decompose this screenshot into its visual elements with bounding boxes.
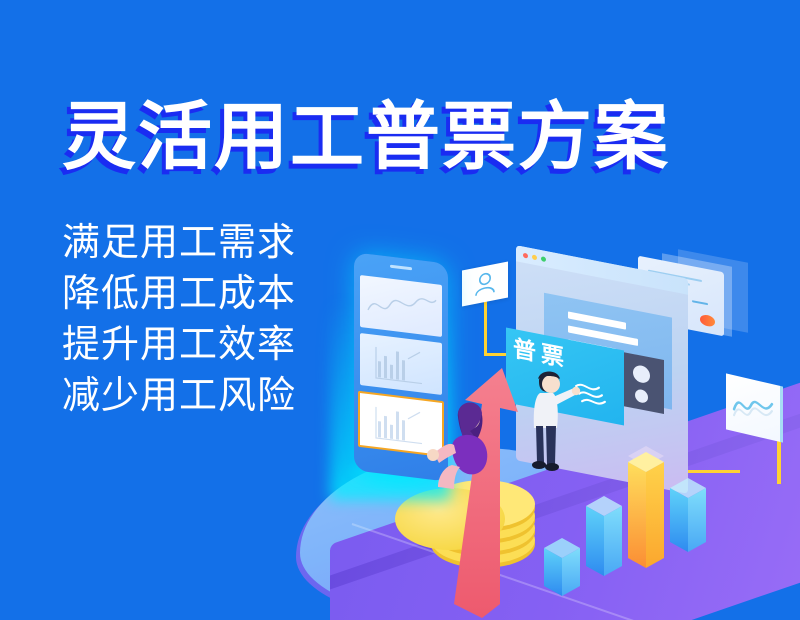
maximize-dot-icon[interactable] [541,256,546,262]
page-title: 灵活用工普票方案 [62,96,670,178]
bar-3 [628,446,664,568]
list-item: 满足用工需求 [62,218,296,269]
minimize-dot-icon[interactable] [532,254,537,260]
phone-card-line-chart[interactable] [360,275,442,337]
line-chart-icon [360,275,442,337]
connector-line-user [484,300,487,356]
list-item: 降低用工成本 [62,269,296,320]
bar-chart-3d-icon [542,428,732,598]
list-item: 提升用工效率 [62,320,296,371]
bar-2 [586,496,622,576]
bar-4 [670,478,706,552]
isometric-bar-chart [542,428,732,598]
poster-canvas: 普票 [0,0,800,620]
benefit-list: 满足用工需求 降低用工成本 提升用工效率 减少用工风险 [62,218,296,422]
bar-1 [544,538,580,596]
woman-seated [418,395,508,505]
phone-speaker [390,265,412,271]
bar-chart-icon [360,333,442,395]
person-icon [462,262,508,307]
panel-avatar [620,351,664,414]
close-dot-icon[interactable] [523,253,528,259]
user-profile-card [462,262,508,307]
list-item: 减少用工风险 [62,371,296,422]
phone-card-bar-chart[interactable] [360,333,442,395]
invoice-seal-icon [700,314,715,328]
woman-figure-icon [418,395,508,505]
